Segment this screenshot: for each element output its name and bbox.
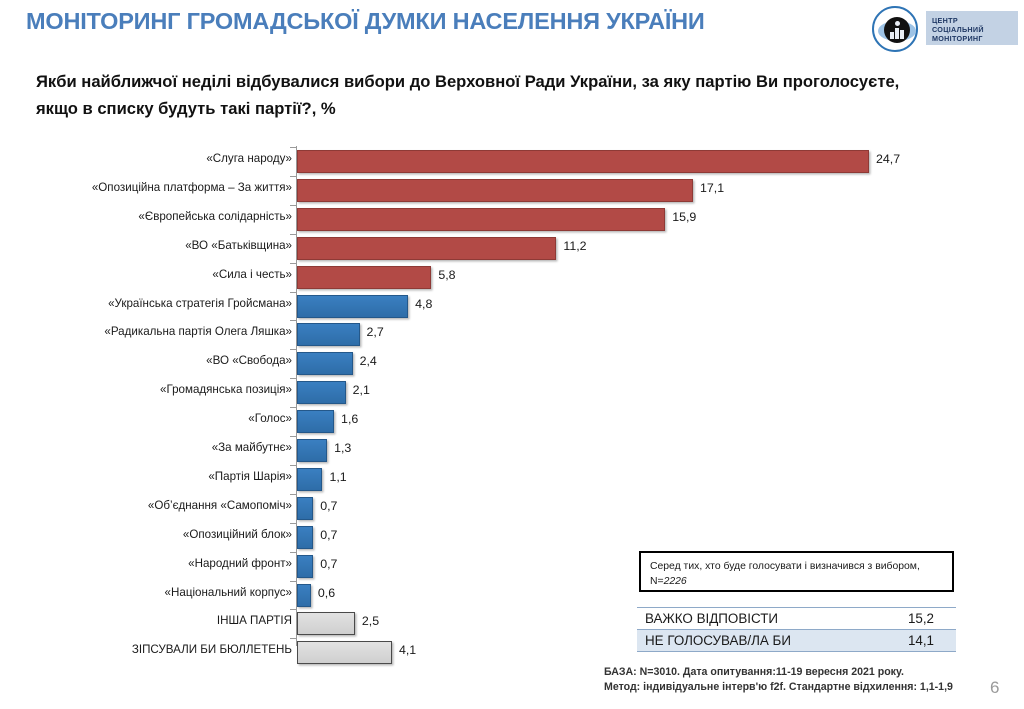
bar-value-label: 17,1 (700, 181, 724, 195)
logo-emblem-icon (884, 17, 910, 43)
summary-row: ВАЖКО ВІДПОВІСТИ15,2 (637, 607, 956, 629)
axis-tick (290, 436, 296, 437)
chart-row: «Громадянська позиція»2,1 (0, 378, 1024, 407)
chart-bar[interactable] (297, 526, 313, 549)
logo-bar-small-icon (890, 32, 894, 39)
chart-bar[interactable] (297, 295, 408, 318)
page-header: МОНІТОРИНГ ГРОМАДСЬКОЇ ДУМКИ НАСЕЛЕННЯ У… (0, 0, 1024, 58)
logo-line-2: СОЦІАЛЬНИЙ (932, 25, 984, 34)
logo-ring-icon (872, 6, 918, 52)
bar-value-label: 11,2 (563, 239, 586, 253)
category-label: «Голос» (248, 412, 292, 425)
chart-row: «Сила і честь»5,8 (0, 263, 1024, 292)
category-label: «Опозиційний блок» (183, 528, 292, 541)
axis-tick (290, 523, 296, 524)
note-text: Серед тих, хто буде голосувати і визначи… (650, 559, 948, 589)
chart-row: «Європейська солідарність»15,9 (0, 205, 1024, 234)
bar-value-label: 2,7 (367, 325, 384, 339)
chart-row: «Об’єднання «Самопоміч»0,7 (0, 494, 1024, 523)
category-label: ІНША ПАРТІЯ (217, 614, 292, 627)
axis-tick (290, 552, 296, 553)
logo-textbox: ЦЕНТР СОЦІАЛЬНИЙ МОНІТОРИНГ (926, 11, 1018, 45)
category-label: «Національний корпус» (165, 586, 292, 599)
category-label: «За майбутнє» (212, 441, 292, 454)
category-label: «Радикальна партія Олега Ляшка» (104, 325, 292, 338)
chart-bar[interactable] (297, 439, 327, 462)
summary-row-value: 15,2 (908, 611, 934, 626)
bar-value-label: 0,6 (318, 586, 335, 600)
category-label: «ВО «Батьківщина» (185, 239, 292, 252)
chart-row: «ВО «Свобода»2,4 (0, 349, 1024, 378)
note-box: Серед тих, хто буде голосувати і визначи… (639, 551, 954, 592)
category-label: «Громадянська позиція» (160, 383, 292, 396)
bar-value-label: 0,7 (320, 557, 337, 571)
chart-row: «Радикальна партія Олега Ляшка»2,7 (0, 320, 1024, 349)
chart-bar[interactable] (297, 150, 869, 173)
chart-bar[interactable] (297, 237, 556, 260)
category-label: «Українська стратегія Гройсмана» (108, 297, 292, 310)
chart-bar[interactable] (297, 179, 693, 202)
summary-row: НЕ ГОЛОСУВАВ/ЛА БИ14,1 (637, 629, 956, 652)
page-title: МОНІТОРИНГ ГРОМАДСЬКОЇ ДУМКИ НАСЕЛЕННЯ У… (26, 8, 705, 35)
category-label: «Опозиційна платформа – За життя» (92, 181, 292, 194)
chart-bar[interactable] (297, 410, 334, 433)
bar-value-label: 2,1 (353, 383, 370, 397)
chart-bar[interactable] (297, 497, 313, 520)
chart-row: «Українська стратегія Гройсмана»4,8 (0, 292, 1024, 321)
chart-row: «Опозиційний блок»0,7 (0, 523, 1024, 552)
bar-value-label: 0,7 (320, 528, 337, 542)
chart-bar[interactable] (297, 352, 353, 375)
axis-tick (290, 176, 296, 177)
chart-bar[interactable] (297, 584, 311, 607)
axis-tick (290, 609, 296, 610)
note-n-value: 2226 (664, 576, 687, 587)
category-label: ЗІПСУВАЛИ БИ БЮЛЛЕТЕНЬ (132, 643, 292, 656)
bar-value-label: 15,9 (672, 210, 696, 224)
chart-row: «Опозиційна платформа – За життя»17,1 (0, 176, 1024, 205)
category-label: «Європейська солідарність» (138, 210, 292, 223)
chart-row: «Партія Шарія»1,1 (0, 465, 1024, 494)
category-label: «Об’єднання «Самопоміч» (148, 499, 292, 512)
axis-tick (290, 638, 296, 639)
axis-tick (290, 263, 296, 264)
chart-row: «За майбутнє»1,3 (0, 436, 1024, 465)
axis-tick (290, 292, 296, 293)
axis-tick (290, 234, 296, 235)
chart-row: «ВО «Батьківщина»11,2 (0, 234, 1024, 263)
bar-value-label: 0,7 (320, 499, 337, 513)
bar-value-label: 5,8 (438, 268, 455, 282)
logo-person-head-icon (895, 21, 900, 26)
axis-tick (290, 407, 296, 408)
footnote: БАЗА: N=3010. Дата опитування:11-19 вере… (604, 665, 994, 695)
bar-value-label: 24,7 (876, 152, 900, 166)
summary-table: ВАЖКО ВІДПОВІСТИ15,2НЕ ГОЛОСУВАВ/ЛА БИ14… (637, 607, 956, 652)
organization-logo: ЦЕНТР СОЦІАЛЬНИЙ МОНІТОРИНГ (872, 6, 1018, 54)
summary-row-label: НЕ ГОЛОСУВАВ/ЛА БИ (645, 633, 791, 648)
logo-bar-medium-icon (900, 30, 904, 39)
axis-tick (290, 349, 296, 350)
category-label: «Народний фронт» (188, 557, 292, 570)
category-label: «ВО «Свобода» (206, 354, 292, 367)
axis-tick (290, 205, 296, 206)
chart-bar[interactable] (297, 612, 355, 635)
logo-line-3: МОНІТОРИНГ (932, 34, 983, 43)
chart-bar[interactable] (297, 641, 392, 664)
category-label: «Партія Шарія» (208, 470, 292, 483)
bar-value-label: 1,3 (334, 441, 351, 455)
chart-bar[interactable] (297, 468, 322, 491)
axis-tick (290, 320, 296, 321)
bar-value-label: 1,6 (341, 412, 358, 426)
logo-line-1: ЦЕНТР (932, 16, 958, 25)
chart-bar[interactable] (297, 555, 313, 578)
axis-tick (290, 147, 296, 148)
bar-value-label: 4,1 (399, 643, 416, 657)
chart-row: «Голос»1,6 (0, 407, 1024, 436)
bar-value-label: 4,8 (415, 297, 432, 311)
axis-tick (290, 465, 296, 466)
survey-question: Якби найближчої неділі відбувалися вибор… (36, 68, 916, 122)
chart-bar[interactable] (297, 323, 360, 346)
category-label: «Сила і честь» (212, 268, 292, 281)
note-text-main: Серед тих, хто буде голосувати і визначи… (650, 561, 920, 587)
summary-row-label: ВАЖКО ВІДПОВІСТИ (645, 611, 778, 626)
axis-tick (290, 494, 296, 495)
category-label: «Слуга народу» (206, 152, 292, 165)
bar-value-label: 2,5 (362, 614, 379, 628)
chart-row: «Слуга народу»24,7 (0, 147, 1024, 176)
chart-bar[interactable] (297, 266, 431, 289)
summary-row-value: 14,1 (908, 633, 934, 648)
page-number: 6 (990, 678, 999, 698)
axis-tick (290, 581, 296, 582)
footnote-line-2: Метод: індивідуальне інтерв'ю f2f. Станд… (604, 680, 994, 695)
footnote-line-1: БАЗА: N=3010. Дата опитування:11-19 вере… (604, 665, 994, 680)
chart-bar[interactable] (297, 208, 665, 231)
chart-bar[interactable] (297, 381, 346, 404)
axis-tick (290, 378, 296, 379)
bar-value-label: 2,4 (360, 354, 377, 368)
bar-value-label: 1,1 (329, 470, 346, 484)
logo-bar-tall-icon (895, 28, 899, 39)
